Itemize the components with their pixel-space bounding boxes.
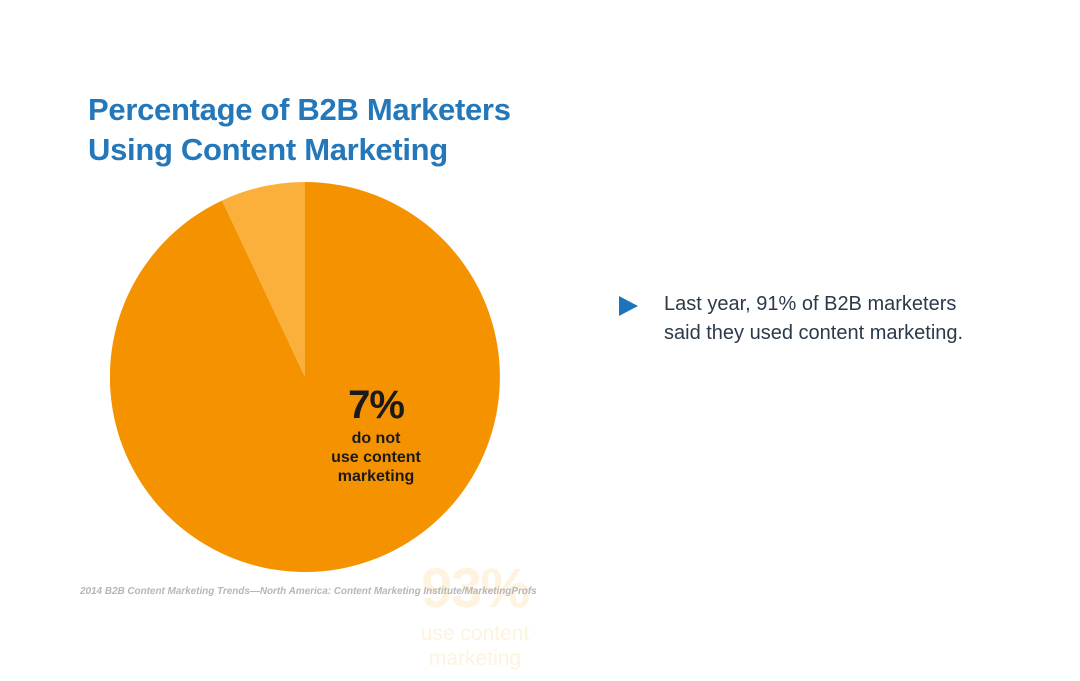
page-title-line-1: Percentage of B2B Marketers <box>88 90 608 130</box>
bullet-callout: Last year, 91% of B2B marketers said the… <box>618 290 1038 348</box>
pie-label-large-desc-line-2: marketing <box>429 647 521 670</box>
slide-canvas: Percentage of B2B Marketers Using Conten… <box>0 0 1080 681</box>
bullet-callout-line-2: said they used content marketing. <box>664 319 1038 348</box>
page-title-line-2: Using Content Marketing <box>88 130 608 170</box>
bullet-callout-text: Last year, 91% of B2B marketers said the… <box>664 290 1038 348</box>
pie-chart: 7% do not use content marketing 93% use … <box>110 182 500 572</box>
pie-label-large-desc-line-1: use content <box>421 622 530 645</box>
pie-label-large-slice: 93% use content marketing <box>375 560 575 671</box>
pie-label-large-description: use content marketing <box>375 621 575 671</box>
source-citation: 2014 B2B Content Marketing Trends—North … <box>80 586 720 597</box>
page-title: Percentage of B2B Marketers Using Conten… <box>88 90 608 171</box>
bullet-callout-line-1: Last year, 91% of B2B marketers <box>664 290 1038 319</box>
play-triangle-icon <box>618 294 640 318</box>
